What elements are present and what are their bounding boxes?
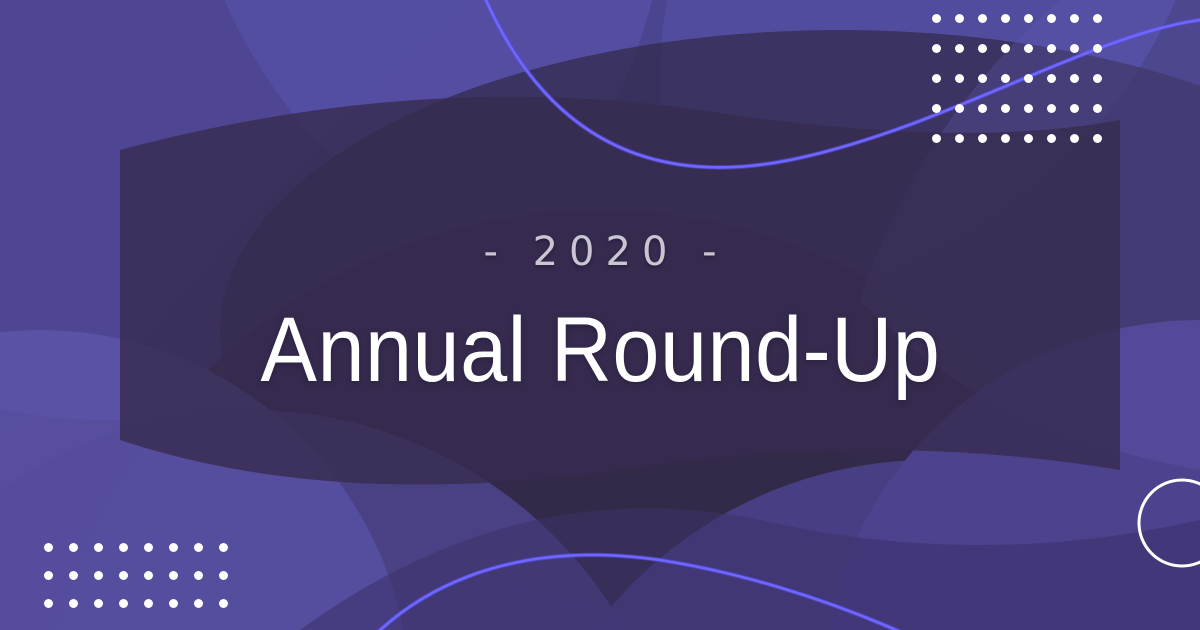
dot — [978, 74, 987, 83]
dot-cell — [1063, 93, 1086, 123]
dot — [119, 599, 128, 608]
dot — [1070, 74, 1079, 83]
dot — [144, 571, 153, 580]
dot — [1070, 134, 1079, 143]
dot-cell — [111, 589, 136, 617]
dot — [932, 104, 941, 113]
dot — [1001, 104, 1010, 113]
dot-cell — [86, 561, 111, 589]
dot-cell — [136, 561, 161, 589]
dot-cell — [186, 561, 211, 589]
dot — [44, 543, 53, 552]
dot-cell — [61, 561, 86, 589]
dot-cell — [1040, 3, 1063, 33]
dot-cell — [994, 3, 1017, 33]
dot — [1001, 44, 1010, 53]
dot — [932, 44, 941, 53]
dot-cell — [111, 561, 136, 589]
dot — [932, 14, 941, 23]
dot — [119, 543, 128, 552]
dot — [1047, 104, 1056, 113]
dot-cell — [948, 93, 971, 123]
dot — [978, 14, 987, 23]
dot — [1093, 44, 1102, 53]
dot-cell — [1017, 3, 1040, 33]
dot-cell — [1017, 33, 1040, 63]
dot-cell — [1063, 33, 1086, 63]
dot — [978, 104, 987, 113]
dot — [1070, 44, 1079, 53]
dot — [194, 543, 203, 552]
dot — [1070, 104, 1079, 113]
dot — [1093, 74, 1102, 83]
dot-cell — [186, 533, 211, 561]
dot-cell — [971, 63, 994, 93]
dot — [119, 571, 128, 580]
dot — [1024, 44, 1033, 53]
dot-cell — [1063, 3, 1086, 33]
dot-cell — [111, 533, 136, 561]
dot — [955, 44, 964, 53]
dot — [1047, 74, 1056, 83]
dot — [932, 74, 941, 83]
dot — [1093, 14, 1102, 23]
dot-cell — [161, 533, 186, 561]
dot — [1024, 14, 1033, 23]
dot-grid-top-right — [925, 3, 1109, 153]
dot-cell — [161, 589, 186, 617]
dot — [1001, 14, 1010, 23]
dot-cell — [161, 561, 186, 589]
dot — [94, 543, 103, 552]
dot — [955, 134, 964, 143]
dot-cell — [86, 533, 111, 561]
dot — [69, 571, 78, 580]
dot-cell — [1017, 123, 1040, 153]
dot-cell — [1086, 93, 1109, 123]
dot — [194, 571, 203, 580]
dot-cell — [136, 589, 161, 617]
dot-cell — [1063, 123, 1086, 153]
dot-cell — [211, 561, 236, 589]
dot-cell — [1086, 63, 1109, 93]
dot — [1047, 14, 1056, 23]
dot-cell — [925, 33, 948, 63]
dot-cell — [1040, 123, 1063, 153]
dot-cell — [925, 123, 948, 153]
dot — [1093, 104, 1102, 113]
dot — [1047, 44, 1056, 53]
dot — [1024, 134, 1033, 143]
dot — [955, 14, 964, 23]
dot-cell — [186, 589, 211, 617]
dot-cell — [948, 33, 971, 63]
dot — [219, 543, 228, 552]
dot — [94, 571, 103, 580]
dot-cell — [86, 589, 111, 617]
dot-cell — [1086, 3, 1109, 33]
dot — [1024, 74, 1033, 83]
dot-cell — [61, 533, 86, 561]
dot-cell — [1017, 93, 1040, 123]
dot-cell — [994, 93, 1017, 123]
dot-cell — [136, 533, 161, 561]
dot — [69, 543, 78, 552]
dot — [44, 571, 53, 580]
dot-cell — [994, 123, 1017, 153]
dot-cell — [925, 3, 948, 33]
dot — [1070, 14, 1079, 23]
dot — [978, 134, 987, 143]
dot-cell — [925, 63, 948, 93]
dot — [144, 543, 153, 552]
dot-cell — [994, 33, 1017, 63]
dot-cell — [211, 533, 236, 561]
dot — [1047, 134, 1056, 143]
dot-cell — [1040, 63, 1063, 93]
dot-cell — [211, 589, 236, 617]
dot-cell — [994, 63, 1017, 93]
dot-cell — [1040, 93, 1063, 123]
dot-cell — [61, 589, 86, 617]
dot-cell — [971, 93, 994, 123]
dot-cell — [971, 123, 994, 153]
dot-cell — [36, 561, 61, 589]
dot-grid-bottom-left — [36, 533, 236, 617]
dot — [219, 599, 228, 608]
dot — [44, 599, 53, 608]
dot — [169, 571, 178, 580]
dot — [69, 599, 78, 608]
dot-cell — [1086, 123, 1109, 153]
dot — [955, 104, 964, 113]
dot-cell — [948, 3, 971, 33]
dot — [978, 44, 987, 53]
dot — [169, 543, 178, 552]
dot — [169, 599, 178, 608]
dot — [1001, 134, 1010, 143]
dot-cell — [948, 123, 971, 153]
dot — [144, 599, 153, 608]
dot — [219, 571, 228, 580]
dot — [1093, 134, 1102, 143]
dot-cell — [971, 33, 994, 63]
dot-cell — [948, 63, 971, 93]
dot — [1001, 74, 1010, 83]
dot-cell — [1086, 33, 1109, 63]
dot — [955, 74, 964, 83]
dot-cell — [971, 3, 994, 33]
annual-roundup-banner: - 2020 - Annual Round-Up — [0, 0, 1200, 630]
dot-cell — [1017, 63, 1040, 93]
dot-cell — [1063, 63, 1086, 93]
dot-cell — [1040, 33, 1063, 63]
dot-cell — [36, 589, 61, 617]
dot-cell — [36, 533, 61, 561]
dot — [1024, 104, 1033, 113]
text-stage-dark — [120, 97, 1120, 485]
dot — [194, 599, 203, 608]
dot — [932, 134, 941, 143]
dot-cell — [925, 93, 948, 123]
dot — [94, 599, 103, 608]
